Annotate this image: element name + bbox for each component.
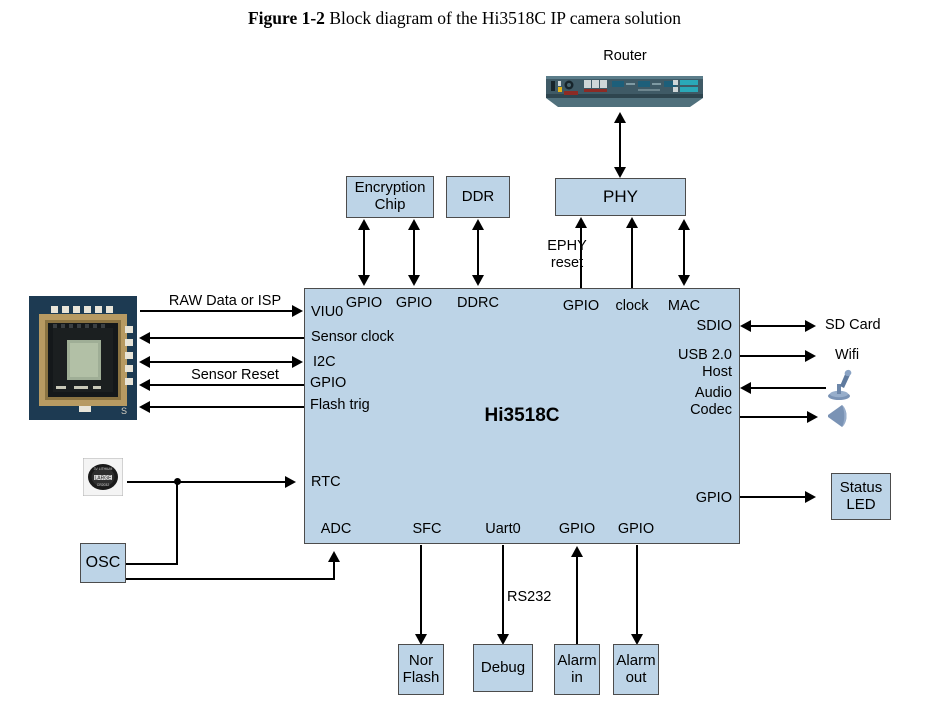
ddrc-arrow-down xyxy=(472,275,484,286)
gpio1-arrow-up xyxy=(358,219,370,230)
status-led-block[interactable]: Status LED xyxy=(831,473,891,520)
chip-port-right-sdio: SDIO xyxy=(627,318,732,335)
chip-port-right-gpio: GPIO xyxy=(627,490,732,507)
chip-port-top-gpio-1: GPIO xyxy=(340,295,388,312)
gpio2-arrow-down xyxy=(408,275,420,286)
figure-title: Figure 1-2 Block diagram of the Hi3518C … xyxy=(0,8,929,29)
chip-port-top-gpio-3: GPIO xyxy=(556,298,606,315)
chip-port-left-viu0: VIU0 xyxy=(311,304,343,321)
microphone-icon xyxy=(824,368,854,400)
alarm-in-block[interactable]: Alarm in xyxy=(554,644,600,695)
sensor-reset-arrow xyxy=(139,379,150,391)
sdio-line xyxy=(748,325,810,327)
gpio1-arrow-down xyxy=(358,275,370,286)
chip-port-top-ddrc: DDRC xyxy=(453,295,503,312)
sensor-clock-line xyxy=(147,337,304,339)
osc-adc-v xyxy=(333,562,335,580)
flash-trig-line xyxy=(147,406,304,408)
mac-arrow-down xyxy=(678,275,690,286)
mic-line xyxy=(748,387,826,389)
coin-cell-battery-icon: LARGE 3V LITHIUM CR2032 xyxy=(83,458,123,496)
raw-data-label: RAW Data or ISP xyxy=(150,293,300,310)
clock-line xyxy=(631,224,633,289)
alarm-in-line xyxy=(576,556,578,644)
ephy-reset-label: EPHY reset xyxy=(527,238,607,271)
phy-block[interactable]: PHY xyxy=(555,178,686,216)
status-led-line xyxy=(740,496,810,498)
figure-caption: Block diagram of the Hi3518C IP camera s… xyxy=(329,8,681,28)
flash-trig-arrow xyxy=(139,401,150,413)
raw-data-line xyxy=(140,310,297,312)
mac-arrow-up xyxy=(678,219,690,230)
ddr-block[interactable]: DDR xyxy=(446,176,510,218)
i2c-arrow-left xyxy=(139,356,150,368)
gpio2-arrow-up xyxy=(408,219,420,230)
osc-adc-arrow xyxy=(328,551,340,562)
image-sensor-icon: S xyxy=(29,296,137,420)
chip-port-bottom-sfc: SFC xyxy=(403,521,451,538)
sdio-arrow-left xyxy=(740,320,751,332)
sensor-clock-arrow xyxy=(139,332,150,344)
status-led-arrow xyxy=(805,491,816,503)
mic-arrow xyxy=(740,382,751,394)
svg-text:S: S xyxy=(121,406,127,416)
osc-branch-v xyxy=(176,481,178,564)
alarm-out-block[interactable]: Alarm out xyxy=(613,644,659,695)
svg-text:CR2032: CR2032 xyxy=(97,483,110,487)
nor-flash-block[interactable]: Nor Flash xyxy=(398,644,444,695)
router-label: Router xyxy=(565,48,685,65)
ephy-reset-arrow-up xyxy=(575,217,587,228)
raw-data-arrow xyxy=(292,305,303,317)
chip-port-top-mac: MAC xyxy=(661,298,707,315)
i2c-line xyxy=(147,361,297,363)
svg-text:3V LITHIUM: 3V LITHIUM xyxy=(94,467,113,471)
chip-port-bottom-gpio-2: GPIO xyxy=(611,521,661,538)
chip-port-left-rtc: RTC xyxy=(311,474,341,491)
chip-port-top-clock: clock xyxy=(608,298,656,315)
debug-line xyxy=(502,545,504,638)
alarm-in-arrow xyxy=(571,546,583,557)
battery-rtc-arrow xyxy=(285,476,296,488)
chip-port-left-flash-trig: Flash trig xyxy=(310,397,370,414)
speaker-icon xyxy=(826,404,852,428)
router-phy-arrow-up xyxy=(614,112,626,123)
sdio-arrow-right xyxy=(805,320,816,332)
svg-text:LARGE: LARGE xyxy=(95,475,113,481)
chip-port-left-sensor-clock: Sensor clock xyxy=(311,329,394,346)
sensor-reset-label: Sensor Reset xyxy=(170,367,300,384)
osc-adc-h xyxy=(126,578,335,580)
chip-port-left-i2c: I2C xyxy=(313,354,336,371)
osc-block[interactable]: OSC xyxy=(80,543,126,583)
hi3518c-chip-label: Hi3518C xyxy=(485,405,560,426)
figure-number: Figure 1-2 xyxy=(248,8,325,28)
chip-port-bottom-adc: ADC xyxy=(312,521,360,538)
clock-arrow-up xyxy=(626,217,638,228)
block-diagram-canvas: Figure 1-2 Block diagram of the Hi3518C … xyxy=(0,0,929,701)
chip-port-right-audio-codec: Audio Codec xyxy=(627,385,732,418)
chip-port-bottom-uart0: Uart0 xyxy=(478,521,528,538)
speaker-line xyxy=(740,416,812,418)
usb-wifi-line xyxy=(740,355,810,357)
alarm-out-line xyxy=(636,545,638,638)
chip-port-left-gpio: GPIO xyxy=(310,375,346,392)
encryption-chip-block[interactable]: Encryption Chip xyxy=(346,176,434,218)
debug-block[interactable]: Debug xyxy=(473,644,533,692)
router-device-icon xyxy=(542,72,707,107)
wifi-label: Wifi xyxy=(835,347,859,364)
router-phy-arrow-down xyxy=(614,167,626,178)
osc-branch-h xyxy=(126,563,178,565)
nor-flash-line xyxy=(420,545,422,638)
chip-port-right-usb-host: USB 2.0 Host xyxy=(627,347,732,380)
usb-wifi-arrow xyxy=(805,350,816,362)
chip-port-bottom-gpio-1: GPIO xyxy=(552,521,602,538)
speaker-arrow xyxy=(807,411,818,423)
battery-rtc-line xyxy=(127,481,290,483)
rs232-label: RS232 xyxy=(507,589,551,606)
ddrc-arrow-up xyxy=(472,219,484,230)
sensor-reset-line xyxy=(147,384,304,386)
chip-port-top-gpio-2: GPIO xyxy=(390,295,438,312)
sd-card-label: SD Card xyxy=(825,317,881,334)
